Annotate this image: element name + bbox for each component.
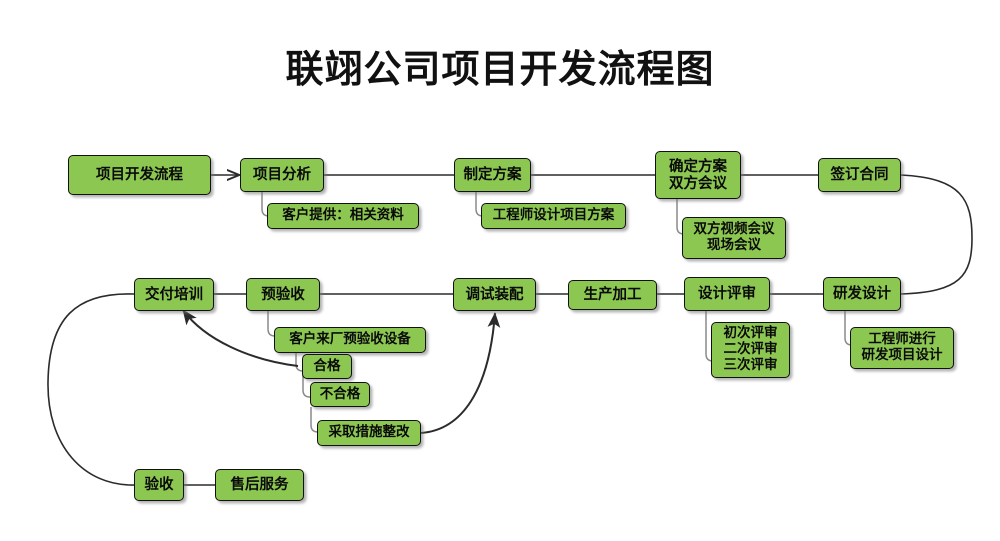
node-label: 客户来厂预验收设备 [289,332,411,348]
node-debug-assembly[interactable]: 调试装配 [453,278,536,311]
node-label: 设计评审 [698,285,756,302]
node-label: 签订合同 [831,166,889,183]
node-confirm-plan-meeting[interactable]: 确定方案 双方会议 [655,151,741,199]
node-pass[interactable]: 合格 [302,354,352,379]
node-label: 交付培训 [145,286,203,303]
node-label: 售后服务 [231,476,289,493]
page-title: 联翊公司项目开发流程图 [0,38,1000,93]
node-label: 客户提供：相关资料 [282,208,404,224]
node-label: 不合格 [320,387,361,403]
node-pre-acceptance-note[interactable]: 客户来厂预验收设备 [274,327,426,353]
node-plan-note[interactable]: 工程师设计项目方案 [481,203,626,229]
node-label-line2: 现场会议 [707,238,761,254]
node-make-plan[interactable]: 制定方案 [454,158,531,192]
node-label: 预验收 [261,286,305,303]
node-label: 采取措施整改 [329,425,410,441]
node-label-line2: 双方会议 [669,175,727,192]
node-label-line1: 初次评审 [724,326,778,342]
node-label: 生产加工 [584,286,642,303]
node-label: 合格 [314,359,341,375]
node-label: 工程师设计项目方案 [493,208,615,224]
node-label: 项目开发流程 [96,166,183,183]
node-label: 研发设计 [833,285,891,302]
node-after-sales-service[interactable]: 售后服务 [215,469,304,501]
node-project-development-process[interactable]: 项目开发流程 [68,155,211,195]
node-production[interactable]: 生产加工 [568,280,657,310]
node-confirm-note[interactable]: 双方视频会议 现场会议 [682,217,786,259]
node-rectify[interactable]: 采取措施整改 [317,420,421,446]
node-design-review[interactable]: 设计评审 [684,277,770,311]
node-label: 调试装配 [466,286,524,303]
node-rd-design[interactable]: 研发设计 [823,277,901,311]
node-label: 验收 [145,476,174,493]
node-acceptance[interactable]: 验收 [134,469,184,501]
flowchart-canvas: 联翊公司项目开发流程图 [0,0,1000,541]
node-rd-note[interactable]: 工程师进行 研发项目设计 [850,327,954,369]
node-label-line2: 二次评审 [724,342,778,358]
node-label-line1: 确定方案 [669,158,727,175]
node-label-line2: 研发项目设计 [862,348,943,364]
node-label-line1: 工程师进行 [868,332,936,348]
node-label-line3: 三次评审 [724,358,778,374]
node-pre-acceptance[interactable]: 预验收 [246,278,320,311]
node-delivery-training[interactable]: 交付培训 [134,278,214,311]
node-label: 项目分析 [253,166,311,183]
node-label: 制定方案 [464,166,522,183]
node-project-analysis[interactable]: 项目分析 [240,158,324,192]
node-analysis-note[interactable]: 客户提供：相关资料 [267,203,419,229]
node-label-line1: 双方视频会议 [694,222,775,238]
node-review-note[interactable]: 初次评审 二次评审 三次评审 [711,322,790,378]
node-sign-contract[interactable]: 签订合同 [818,158,901,192]
node-fail[interactable]: 不合格 [310,382,370,407]
